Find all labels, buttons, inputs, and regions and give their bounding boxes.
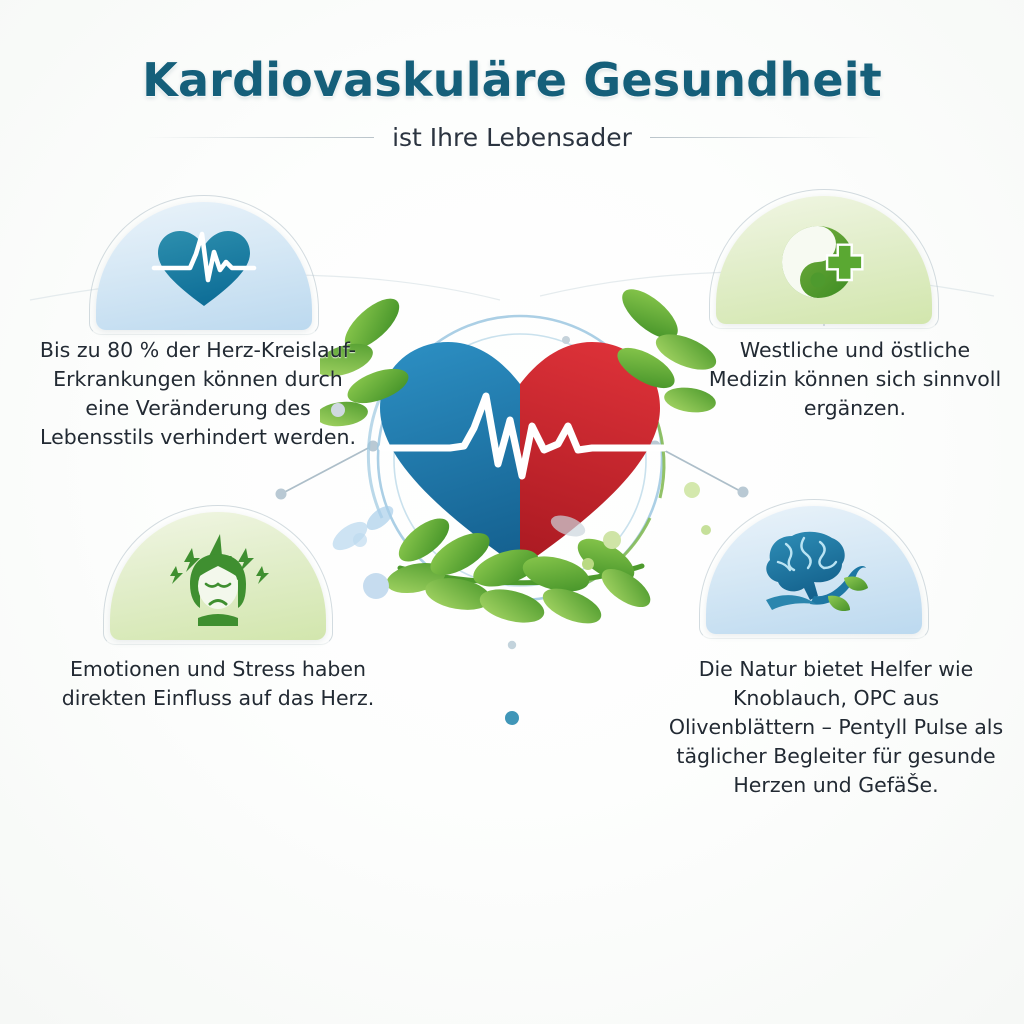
center-emblem bbox=[320, 268, 720, 668]
connector-node-center bbox=[505, 711, 519, 725]
fact-text-prevention: Bis zu 80 % der Herz-Kreislauf-Erkrankun… bbox=[38, 336, 358, 452]
stressed-person-lightning-icon bbox=[162, 528, 274, 626]
heart-ecg-icon bbox=[148, 218, 260, 316]
brain-vessel-leaf-icon bbox=[758, 522, 870, 620]
fact-text-natural-helpers: Die Natur bietet Helfer wie Knoblauch, O… bbox=[660, 655, 1012, 801]
fact-text-integrative-medicine: Westliche und östliche Medizin können si… bbox=[700, 336, 1010, 423]
fact-text-stress: Emotionen und Stress haben direkten Einf… bbox=[58, 655, 378, 713]
connector-node-right bbox=[738, 487, 749, 498]
badge-stress[interactable] bbox=[110, 512, 326, 640]
yin-yang-medical-cross-icon bbox=[768, 212, 880, 310]
badge-natural-helpers[interactable] bbox=[706, 506, 922, 634]
connector-node-left bbox=[276, 489, 287, 500]
badge-integrative-medicine[interactable] bbox=[716, 196, 932, 324]
infographic-canvas: Kardiovaskuläre Gesundheit ist Ihre Lebe… bbox=[0, 0, 1024, 1024]
badge-prevention[interactable] bbox=[96, 202, 312, 330]
